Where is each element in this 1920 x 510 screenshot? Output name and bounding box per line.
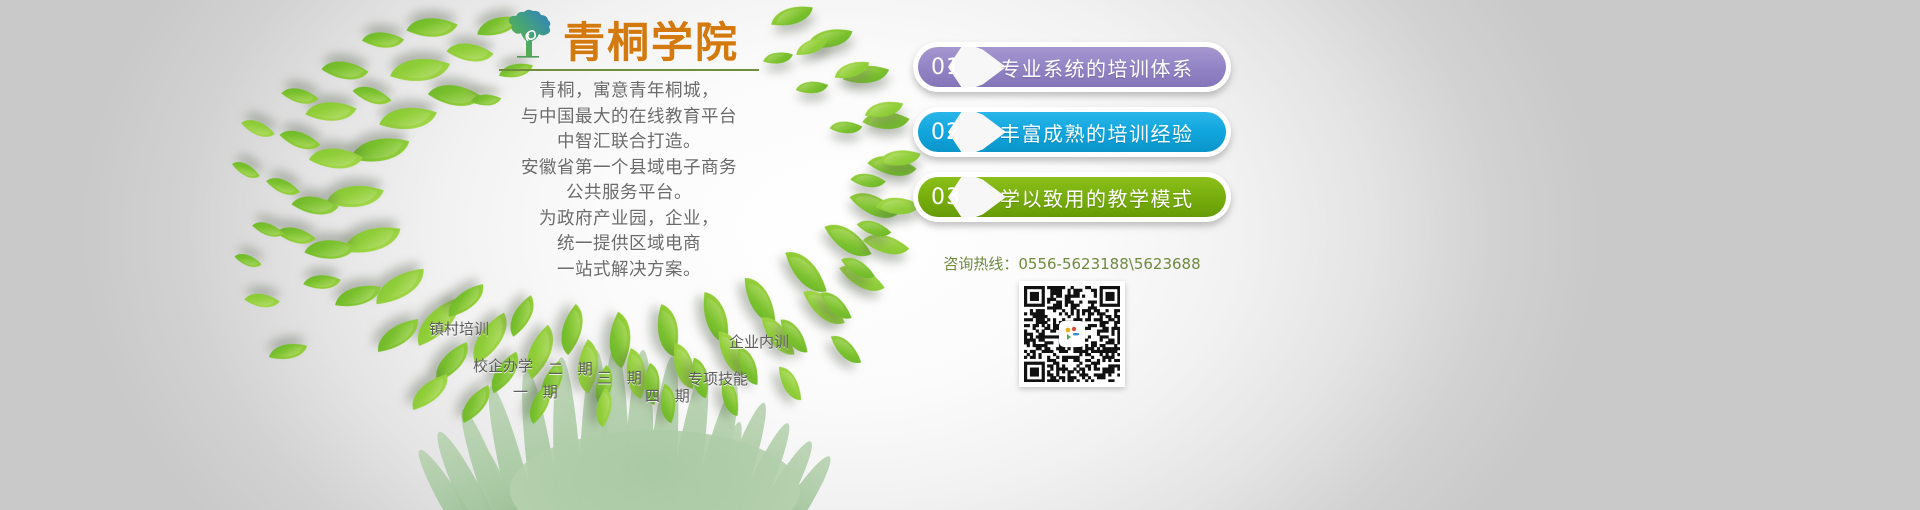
leaf-shape — [406, 6, 457, 49]
leaf-shape — [232, 155, 260, 185]
intro-paragraph: 青桐，寓意青年桐城，与中国最大的在线教育平台中智汇联合打造。安徽省第一个县域电子… — [479, 79, 779, 283]
qr-code[interactable] — [1019, 281, 1125, 387]
ground-label: 二 期 — [548, 358, 598, 379]
leaf-shape — [406, 374, 453, 410]
ground-label: 企业内训 — [729, 331, 789, 352]
leaf-shape — [269, 337, 307, 366]
intro-line: 青桐，寓意青年桐城， — [479, 79, 779, 105]
leaf-shape — [446, 30, 493, 73]
intro-line: 安徽省第一个县域电子商务 — [479, 156, 779, 182]
feature-badge-02[interactable]: 02丰富成熟的培训经验 — [913, 107, 1231, 157]
banner-canvas: 青桐学院 青桐，寓意青年桐城，与中国最大的在线教育平台中智汇联合打造。安徽省第一… — [0, 0, 1920, 510]
intro-line: 一站式解决方案。 — [479, 258, 779, 284]
logo-divider — [499, 69, 759, 71]
intro-line: 公共服务平台。 — [479, 181, 779, 207]
leaf-shape — [266, 169, 300, 204]
tree-icon — [499, 7, 557, 64]
intro-line: 与中国最大的在线教育平台 — [479, 105, 779, 131]
ground-label: 镇村培训 — [429, 318, 489, 339]
leaf-shape — [234, 246, 261, 274]
hotline-text: 咨询热线：0556-5623188\5623688 — [913, 253, 1231, 274]
leaf-shape — [831, 331, 861, 370]
ground-label: 一 期 — [513, 381, 563, 402]
feature-badge-01[interactable]: 01专业系统的培训体系 — [913, 42, 1231, 92]
qr-center-logo — [1059, 321, 1085, 347]
badge-number: 03 — [918, 185, 974, 210]
leaf-shape — [771, 1, 813, 31]
brand-logo: 青桐学院 — [499, 6, 759, 71]
leaf-shape — [326, 173, 384, 219]
ground-label: 校企办学 — [473, 355, 533, 376]
leaf-shape — [428, 342, 477, 382]
leaf-shape — [303, 266, 340, 298]
leaf-shape — [351, 128, 410, 172]
leaf-shape — [335, 280, 381, 313]
ground-label: 专项技能 — [688, 368, 748, 389]
leaf-shape — [252, 214, 284, 246]
intro-line: 为政府产业园，企业， — [479, 207, 779, 233]
leaf-shape — [344, 220, 401, 261]
intro-line: 统一提供区域电商 — [479, 232, 779, 258]
badge-number: 02 — [918, 120, 974, 145]
feature-badge-03[interactable]: 03学以致用的教学模式 — [913, 172, 1231, 222]
leaf-shape — [241, 111, 275, 146]
leaf-shape — [779, 367, 801, 402]
leaf-shape — [244, 284, 279, 317]
brand-title: 青桐学院 — [563, 22, 739, 64]
badge-label: 学以致用的教学模式 — [1000, 183, 1194, 212]
ground-label: 三 期 — [597, 367, 647, 388]
intro-line: 中智汇联合打造。 — [479, 130, 779, 156]
leaf-shape — [374, 268, 427, 303]
leaf-shape — [362, 21, 404, 58]
leaf-shape — [763, 46, 793, 69]
badge-label: 丰富成熟的培训经验 — [1000, 118, 1194, 147]
leaf-shape — [500, 295, 545, 336]
leaf-shape — [796, 36, 827, 57]
leaf-shape — [830, 114, 863, 142]
feature-badge-list: 01专业系统的培训体系02丰富成熟的培训经验03学以致用的教学模式 — [913, 42, 1231, 237]
badge-number: 01 — [918, 55, 974, 80]
leaf-shape — [374, 319, 421, 352]
leaf-shape — [796, 75, 828, 101]
badge-label: 专业系统的培训体系 — [1000, 53, 1194, 82]
leaf-shape — [353, 77, 392, 116]
leaf-shape — [745, 277, 776, 324]
